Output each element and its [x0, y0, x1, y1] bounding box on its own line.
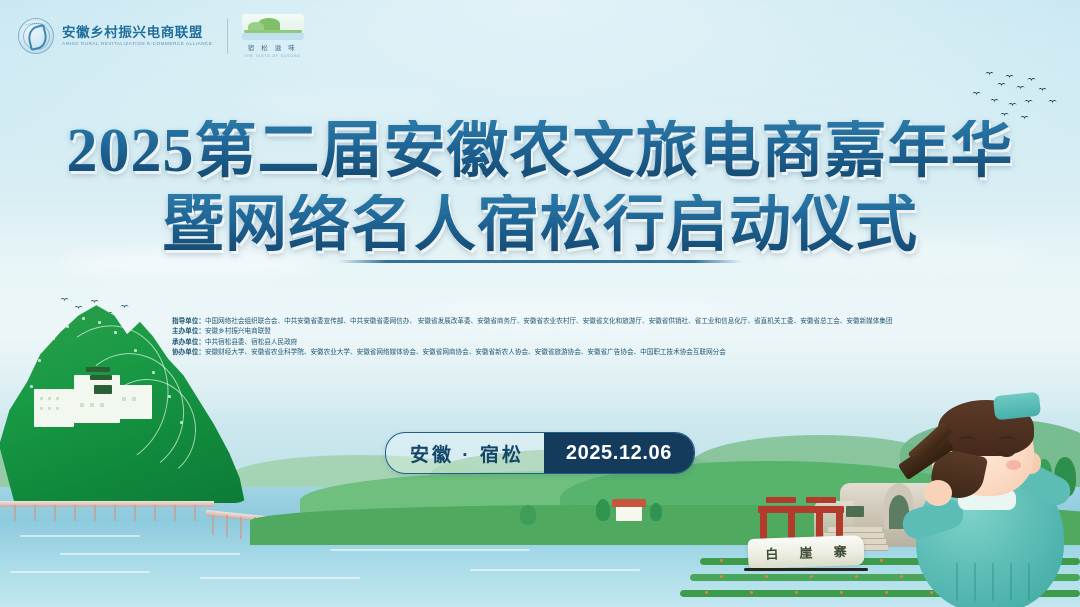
organizer-value: 安徽财经大学、安徽省农业科学院、安徽农业大学、安徽省网络媒体协会、安徽省网商协会… — [205, 348, 726, 358]
organizer-value: 中国网络社会组织联合会、中共安徽省委宣传部、中共安徽省委网信办、 安徽省发展改革… — [205, 317, 893, 327]
water-wave — [20, 535, 140, 537]
mascot-brow — [998, 436, 1016, 446]
tree — [520, 505, 536, 525]
susong-landscape-logo-icon — [242, 14, 304, 40]
organizer-row: 协办单位： 安徽财经大学、安徽省农业科学院、安徽农业大学、安徽省网络媒体协会、安… — [172, 348, 893, 358]
mascot-brow — [958, 436, 976, 446]
bird-icon — [985, 72, 994, 77]
stone-sign-text: 白 崖 寨 — [748, 540, 865, 563]
event-place: 安徽 · 宿松 — [386, 433, 544, 473]
wall-window — [846, 506, 864, 517]
header-logos: 安徽乡村振兴电商联盟 ANHUI RURAL REVITALIZATION E-… — [18, 14, 304, 58]
water-wave — [330, 549, 530, 551]
event-badge: 安徽 · 宿松 2025.12.06 — [385, 432, 695, 474]
bird-icon — [1038, 88, 1047, 93]
susong-logo-cn: 宿 松 滋 味 — [248, 42, 298, 52]
mascot-eye — [998, 446, 1015, 457]
lake-bridge — [0, 501, 214, 507]
event-date: 2025.12.06 — [544, 433, 694, 473]
mascot-cheek — [1006, 460, 1021, 470]
organizer-label: 承办单位： — [172, 338, 205, 348]
title-line-1: 2025第二届安徽农文旅电商嘉年华 — [0, 120, 1080, 182]
bird-icon — [1008, 103, 1017, 108]
alliance-circle-logo-icon — [18, 18, 54, 54]
red-memorial-archway — [766, 497, 796, 503]
scholar-mascot — [902, 392, 1078, 607]
logo-divider — [227, 18, 228, 54]
organizer-label: 指导单位： — [172, 317, 205, 327]
bird-icon — [997, 83, 1006, 88]
tree — [650, 503, 662, 521]
organizer-row: 指导单位： 中国网络社会组织联合会、中共安徽省委宣传部、中共安徽省委网信办、 安… — [172, 317, 893, 327]
organizer-row: 承办单位： 中共宿松县委、宿松县人民政府 — [172, 338, 893, 348]
title-line-2: 暨网络名人宿松行启动仪式 — [0, 194, 1080, 256]
water-wave — [470, 569, 640, 571]
farm-house-roof — [612, 499, 646, 507]
water-wave — [200, 577, 360, 579]
island-building — [74, 375, 120, 423]
alliance-logo-cn: 安徽乡村振兴电商联盟 — [62, 26, 213, 40]
water-wave — [60, 553, 240, 555]
bird-icon — [1016, 86, 1025, 91]
bird-icon — [1048, 100, 1057, 105]
organizer-label: 协办单位： — [172, 348, 205, 358]
mascot-hand — [924, 480, 952, 506]
alliance-logo-en: ANHUI RURAL REVITALIZATION E-COMMERCE AL… — [62, 41, 213, 46]
red-memorial-archway — [806, 497, 836, 503]
organizer-value: 中共宿松县委、宿松县人民政府 — [205, 338, 297, 348]
island-building — [116, 385, 152, 419]
bird-icon — [1005, 75, 1014, 80]
bird-icon — [1024, 100, 1033, 105]
farm-house — [616, 505, 642, 521]
alliance-logo[interactable]: 安徽乡村振兴电商联盟 ANHUI RURAL REVITALIZATION E-… — [18, 18, 213, 54]
bird-icon — [990, 99, 999, 104]
cloud — [240, 95, 440, 113]
organizer-value: 安徽乡村振兴电商联盟 — [205, 327, 271, 337]
stone-sign-base — [744, 568, 868, 571]
organizer-list: 指导单位： 中国网络社会组织联合会、中共安徽省委宣传部、中共安徽省委网信办、 安… — [172, 317, 893, 359]
bird-icon — [1027, 78, 1036, 83]
tree — [596, 499, 610, 521]
poster-canvas: 安徽乡村振兴电商联盟 ANHUI RURAL REVITALIZATION E-… — [0, 0, 1080, 607]
organizer-row: 主办单位： 安徽乡村振兴电商联盟 — [172, 327, 893, 337]
stone-sign: 白 崖 寨 — [748, 535, 865, 569]
organizer-label: 主办单位： — [172, 327, 205, 337]
bird-icon — [972, 92, 981, 97]
susong-logo[interactable]: 宿 松 滋 味 THE TASTE OF SUSONG — [242, 14, 304, 58]
title-underline — [338, 260, 742, 263]
mascot-cap — [993, 392, 1041, 421]
water-wave — [10, 571, 150, 573]
susong-logo-en: THE TASTE OF SUSONG — [244, 54, 301, 58]
poster-title: 2025第二届安徽农文旅电商嘉年华 暨网络名人宿松行启动仪式 — [0, 120, 1080, 263]
red-memorial-archway — [758, 506, 844, 513]
